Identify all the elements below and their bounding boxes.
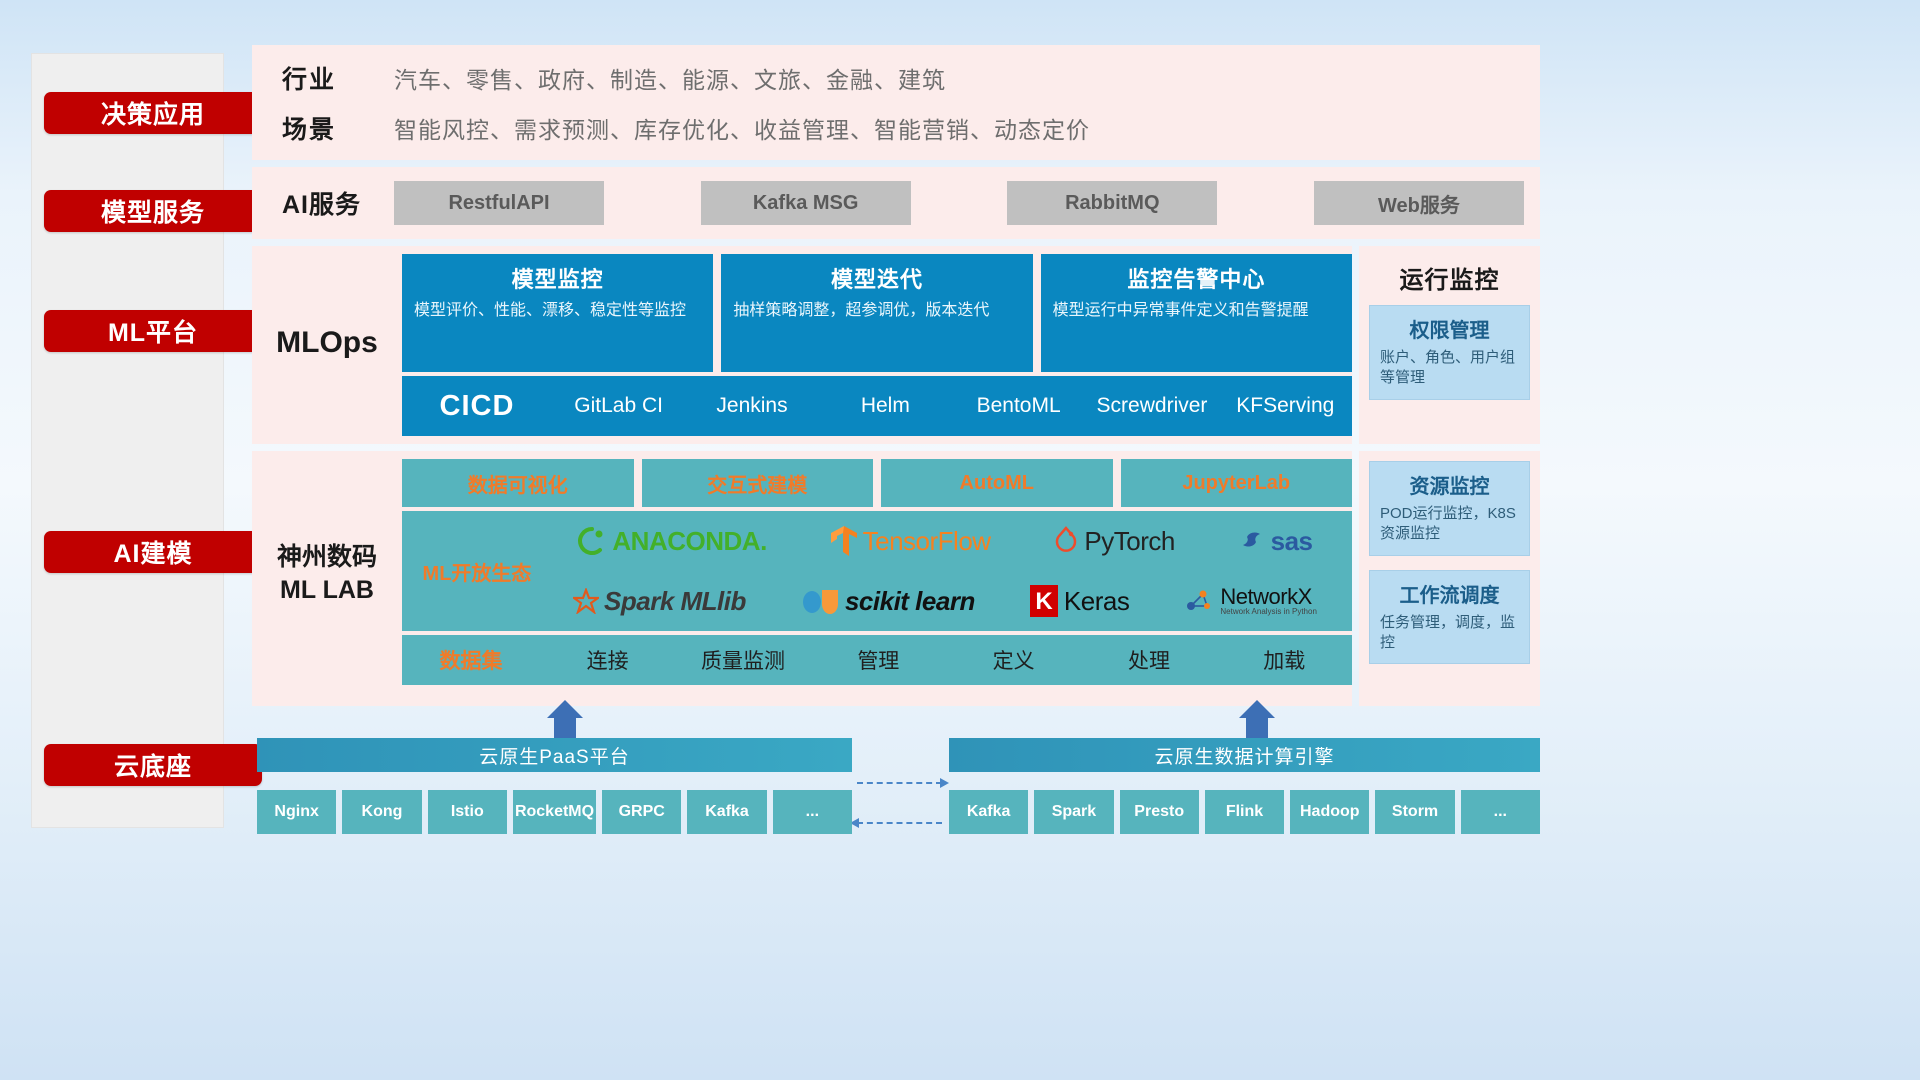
card-title: 工作流调度 xyxy=(1380,579,1519,608)
paas-platform-title: 云原生PaaS平台 xyxy=(257,738,852,772)
ml-ecosystem-label: ML开放生态 xyxy=(408,557,546,586)
mlops-band: MLOps 模型监控 模型评价、性能、漂移、稳定性等监控 模型迭代 抽样策略调整… xyxy=(252,246,1352,444)
spark-star-icon xyxy=(573,588,599,614)
ml-lab-tool-interactive-modeling[interactable]: 交互式建模 xyxy=(642,459,874,507)
dataset-item-load[interactable]: 加载 xyxy=(1217,645,1352,675)
ecosystem-logo-grid: ANACONDA. TensorFlow xyxy=(546,512,1352,630)
ml-lab-tool-visualization[interactable]: 数据可视化 xyxy=(402,459,634,507)
decision-applications-band: 行业 汽车、零售、政府、制造、能源、文旅、金融、建筑 场景 智能风控、需求预测、… xyxy=(252,45,1540,160)
card-title: 权限管理 xyxy=(1380,314,1519,343)
card-desc: 模型评价、性能、漂移、稳定性等监控 xyxy=(414,300,701,322)
card-title: 模型监控 xyxy=(414,262,701,294)
data-compute-engine-group: 云原生数据计算引擎 Kafka Spark Presto Flink Hadoo… xyxy=(949,738,1540,834)
left-stage-rail: 决策应用 模型服务 ML平台 AI建模 云底座 xyxy=(31,53,224,828)
platform-and-monitoring-wrapper: MLOps 模型监控 模型评价、性能、漂移、稳定性等监控 模型迭代 抽样策略调整… xyxy=(252,246,1540,706)
stage-pill-decision[interactable]: 决策应用 xyxy=(44,92,262,134)
ml-lab-body: 数据可视化 交互式建模 AutoML JupyterLab ML开放生态 xyxy=(402,459,1352,685)
spark-logo-text: Spark MLlib xyxy=(604,586,746,617)
sas-icon xyxy=(1238,527,1266,555)
paas-chip-istio[interactable]: Istio xyxy=(428,790,507,834)
paas-chip-nginx[interactable]: Nginx xyxy=(257,790,336,834)
dataset-label: 数据集 xyxy=(402,645,540,675)
card-desc: 账户、角色、用户组等管理 xyxy=(1380,348,1519,389)
stage-pill-label: ML平台 xyxy=(108,313,198,349)
stage-pill-label: 模型服务 xyxy=(101,193,205,229)
architecture-main-column: 行业 汽车、零售、政府、制造、能源、文旅、金融、建筑 场景 智能风控、需求预测、… xyxy=(252,45,1540,713)
tensorflow-logo: TensorFlow xyxy=(830,525,991,557)
card-desc: 模型运行中异常事件定义和告警提醒 xyxy=(1053,300,1340,322)
ai-service-chip-restful[interactable]: RestfulAPI xyxy=(394,181,604,225)
industry-row: 行业 汽车、零售、政府、制造、能源、文旅、金融、建筑 xyxy=(282,60,1540,96)
mlops-card-alert-center[interactable]: 监控告警中心 模型运行中异常事件定义和告警提醒 xyxy=(1041,254,1352,372)
dataset-item-connect[interactable]: 连接 xyxy=(540,645,675,675)
monitoring-card-resources[interactable]: 资源监控 POD运行监控，K8S资源监控 xyxy=(1369,461,1530,556)
cicd-item-bentoml[interactable]: BentoML xyxy=(952,394,1085,417)
mlops-card-list: 模型监控 模型评价、性能、漂移、稳定性等监控 模型迭代 抽样策略调整，超参调优，… xyxy=(402,254,1352,372)
cicd-bar: CICD GitLab CI Jenkins Helm BentoML Scre… xyxy=(402,376,1352,436)
industry-label: 行业 xyxy=(282,60,394,96)
ai-service-label: AI服务 xyxy=(282,185,394,221)
keras-logo: K Keras xyxy=(1029,584,1129,618)
mlops-card-model-iteration[interactable]: 模型迭代 抽样策略调整，超参调优，版本迭代 xyxy=(721,254,1032,372)
stage-pill-model-service[interactable]: 模型服务 xyxy=(44,190,262,232)
scenario-row: 场景 智能风控、需求预测、库存优化、收益管理、智能营销、动态定价 xyxy=(282,110,1540,146)
card-desc: 抽样策略调整，超参调优，版本迭代 xyxy=(733,300,1020,322)
scenario-values: 智能风控、需求预测、库存优化、收益管理、智能营销、动态定价 xyxy=(394,111,1090,145)
dataset-bar: 数据集 连接 质量监测 管理 定义 处理 加载 xyxy=(402,635,1352,685)
monitoring-card-workflow[interactable]: 工作流调度 任务管理，调度，监控 xyxy=(1369,570,1530,665)
engine-chip-spark[interactable]: Spark xyxy=(1034,790,1113,834)
pytorch-logo-text: PyTorch xyxy=(1084,526,1174,557)
dataset-item-quality[interactable]: 质量监测 xyxy=(675,645,810,675)
paas-chip-grpc[interactable]: GRPC xyxy=(602,790,681,834)
paas-chip-rocketmq[interactable]: RocketMQ xyxy=(513,790,596,834)
engine-chip-more[interactable]: ... xyxy=(1461,790,1540,834)
stage-pill-label: AI建模 xyxy=(113,534,192,570)
dashed-connector-right xyxy=(857,782,942,784)
tensorflow-logo-text: TensorFlow xyxy=(863,526,991,557)
engine-chip-flink[interactable]: Flink xyxy=(1205,790,1284,834)
svg-text:K: K xyxy=(1035,588,1053,615)
ai-service-band: AI服务 RestfulAPI Kafka MSG RabbitMQ Web服务 xyxy=(252,167,1540,239)
ml-lab-band: 神州数码 ML LAB 数据可视化 交互式建模 AutoML JupyterLa… xyxy=(252,451,1352,706)
cicd-label: CICD xyxy=(402,390,552,423)
runtime-monitoring-rail: 运行监控 权限管理 账户、角色、用户组等管理 资源监控 POD运行监控，K8S资… xyxy=(1359,246,1540,713)
data-engine-chip-list: Kafka Spark Presto Flink Hadoop Storm ..… xyxy=(949,790,1540,834)
cicd-item-screwdriver[interactable]: Screwdriver xyxy=(1085,394,1218,417)
industry-values: 汽车、零售、政府、制造、能源、文旅、金融、建筑 xyxy=(394,61,946,95)
dataset-item-define[interactable]: 定义 xyxy=(946,645,1081,675)
ai-service-chip-rabbitmq[interactable]: RabbitMQ xyxy=(1007,181,1217,225)
paas-chip-kafka[interactable]: Kafka xyxy=(687,790,766,834)
pytorch-icon xyxy=(1053,526,1079,556)
paas-platform-group: 云原生PaaS平台 Nginx Kong Istio RocketMQ GRPC… xyxy=(257,738,852,834)
mlops-label: MLOps xyxy=(252,254,402,360)
platform-column: MLOps 模型监控 模型评价、性能、漂移、稳定性等监控 模型迭代 抽样策略调整… xyxy=(252,246,1352,706)
networkx-logo-text: NetworkX xyxy=(1220,586,1317,608)
engine-chip-hadoop[interactable]: Hadoop xyxy=(1290,790,1369,834)
scikit-learn-logo-text: scikit learn xyxy=(845,586,975,617)
ecosystem-logo-row-1: ANACONDA. TensorFlow xyxy=(546,512,1344,570)
engine-chip-storm[interactable]: Storm xyxy=(1375,790,1454,834)
dashed-connector-left xyxy=(857,822,942,824)
ai-service-chip-list: RestfulAPI Kafka MSG RabbitMQ Web服务 xyxy=(394,181,1540,225)
networkx-icon xyxy=(1183,586,1215,616)
stage-pill-label: 决策应用 xyxy=(101,95,205,131)
cicd-item-kfserving[interactable]: KFServing xyxy=(1219,394,1352,417)
anaconda-logo: ANACONDA. xyxy=(577,526,766,557)
paas-chip-more[interactable]: ... xyxy=(773,790,852,834)
networkx-logo: NetworkX Network Analysis in Python xyxy=(1183,586,1317,616)
ecosystem-logo-row-2: Spark MLlib scikit learn xyxy=(546,572,1344,630)
pytorch-logo: PyTorch xyxy=(1053,526,1174,557)
ml-lab-tool-jupyterlab[interactable]: JupyterLab xyxy=(1121,459,1353,507)
ml-lab-tool-list: 数据可视化 交互式建模 AutoML JupyterLab xyxy=(402,459,1352,507)
monitoring-upper-band: 运行监控 权限管理 账户、角色、用户组等管理 xyxy=(1359,246,1540,444)
card-title: 资源监控 xyxy=(1380,470,1519,499)
engine-chip-kafka[interactable]: Kafka xyxy=(949,790,1028,834)
dashed-arrow-head-right xyxy=(940,778,949,788)
sas-logo: sas xyxy=(1238,526,1313,557)
scikit-learn-icon xyxy=(800,586,840,616)
dataset-item-manage[interactable]: 管理 xyxy=(811,645,946,675)
cicd-item-jenkins[interactable]: Jenkins xyxy=(685,394,818,417)
application-grid: 行业 汽车、零售、政府、制造、能源、文旅、金融、建筑 场景 智能风控、需求预测、… xyxy=(282,60,1540,146)
card-desc: POD运行监控，K8S资源监控 xyxy=(1380,504,1519,545)
ml-lab-label-line2: ML LAB xyxy=(252,574,402,607)
stage-pill-label: 云底座 xyxy=(114,747,192,783)
mlops-card-model-monitoring[interactable]: 模型监控 模型评价、性能、漂移、稳定性等监控 xyxy=(402,254,713,372)
monitoring-lower-band: 资源监控 POD运行监控，K8S资源监控 工作流调度 任务管理，调度，监控 xyxy=(1359,451,1540,706)
dataset-item-process[interactable]: 处理 xyxy=(1081,645,1216,675)
scenario-label: 场景 xyxy=(282,110,394,146)
card-title: 模型迭代 xyxy=(733,262,1020,294)
stage-pill-ml-platform[interactable]: ML平台 xyxy=(44,310,262,352)
tensorflow-icon xyxy=(830,525,858,557)
anaconda-logo-text: ANACONDA. xyxy=(612,526,766,557)
cicd-item-helm[interactable]: Helm xyxy=(819,394,952,417)
anaconda-icon xyxy=(577,526,607,556)
monitoring-card-permissions[interactable]: 权限管理 账户、角色、用户组等管理 xyxy=(1369,305,1530,400)
keras-logo-text: Keras xyxy=(1064,586,1129,617)
cloud-foundation-section: 云原生PaaS平台 Nginx Kong Istio RocketMQ GRPC… xyxy=(252,738,1540,848)
scikit-learn-logo: scikit learn xyxy=(800,586,975,617)
ml-lab-label: 神州数码 ML LAB xyxy=(252,459,402,606)
networkx-logo-subtext: Network Analysis in Python xyxy=(1220,608,1317,616)
ml-lab-tool-automl[interactable]: AutoML xyxy=(881,459,1113,507)
ai-service-chip-web[interactable]: Web服务 xyxy=(1314,181,1524,225)
ai-service-chip-kafka[interactable]: Kafka MSG xyxy=(701,181,911,225)
stage-pill-ai-modeling[interactable]: AI建模 xyxy=(44,531,262,573)
paas-chip-list: Nginx Kong Istio RocketMQ GRPC Kafka ... xyxy=(257,790,852,834)
stage-pill-cloud-base[interactable]: 云底座 xyxy=(44,744,262,786)
sas-logo-text: sas xyxy=(1271,526,1313,557)
paas-chip-kong[interactable]: Kong xyxy=(342,790,421,834)
card-title: 监控告警中心 xyxy=(1053,262,1340,294)
card-desc: 任务管理，调度，监控 xyxy=(1380,613,1519,654)
runtime-monitoring-title: 运行监控 xyxy=(1359,246,1540,305)
engine-chip-presto[interactable]: Presto xyxy=(1120,790,1199,834)
ml-open-ecosystem: ML开放生态 ANACONDA. xyxy=(402,511,1352,631)
ml-lab-label-line1: 神州数码 xyxy=(252,541,402,574)
spark-mllib-logo: Spark MLlib xyxy=(573,586,746,617)
keras-icon: K xyxy=(1029,584,1059,618)
mlops-body: 模型监控 模型评价、性能、漂移、稳定性等监控 模型迭代 抽样策略调整，超参调优，… xyxy=(402,254,1352,436)
cicd-item-gitlab[interactable]: GitLab CI xyxy=(552,394,685,417)
data-engine-title: 云原生数据计算引擎 xyxy=(949,738,1540,772)
